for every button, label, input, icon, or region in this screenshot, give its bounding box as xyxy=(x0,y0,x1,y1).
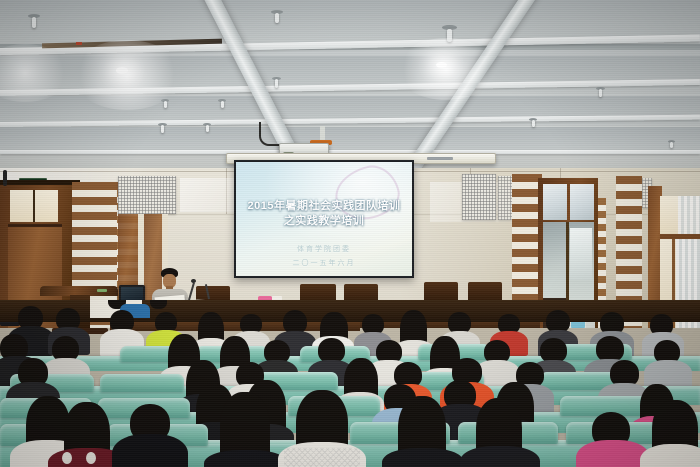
slide-subtitle-line-1: 体育学院团委 xyxy=(236,244,412,254)
lace-texture-overlay xyxy=(284,448,360,467)
lecture-hall-photo: 安全出口 xyxy=(0,0,700,467)
student-body-r1-g xyxy=(460,446,540,467)
projection-screen[interactable]: 2015年暑期社会实践团队培训 之实践教学培训 体育学院团委 二〇一五年六月 xyxy=(234,160,414,278)
slide-content: 2015年暑期社会实践团队培训 之实践教学培训 体育学院团委 二〇一五年六月 xyxy=(236,162,412,276)
left-door-transom-mullion xyxy=(33,190,35,222)
lectern-indicator xyxy=(97,289,107,292)
seatback-r3-b xyxy=(100,374,184,392)
audience-seating xyxy=(0,300,700,467)
jersey-letter-c xyxy=(62,452,72,464)
ceiling-lamp-glow-right xyxy=(396,38,496,100)
left-door-header xyxy=(0,180,80,185)
student-body-r1-f xyxy=(382,448,464,467)
right-window-blinds-upper xyxy=(678,196,700,236)
ceiling-lamp-left xyxy=(116,67,128,74)
student-body-r1-h-pink xyxy=(576,440,650,467)
wall-conduit xyxy=(3,170,7,186)
ceiling-marker-red xyxy=(76,42,82,45)
desk-microphone-head xyxy=(191,279,196,283)
ceiling-lamp-right xyxy=(436,62,447,68)
slide-title-line-2: 之实践教学培训 xyxy=(236,212,412,228)
slide-subtitle-line-2: 二〇一五年六月 xyxy=(236,258,412,268)
acoustic-panel-right-1 xyxy=(462,174,496,220)
slide-title-line-1: 2015年暑期社会实践团队培训 xyxy=(236,197,412,213)
left-door-panel-top-rail xyxy=(8,224,62,227)
jersey-letter-o xyxy=(86,452,96,464)
ceiling xyxy=(0,0,700,175)
acoustic-panel-right-2 xyxy=(498,176,512,220)
right-door-transom-right xyxy=(570,184,594,220)
student-body-r1-d xyxy=(204,450,288,467)
right-door-transom-left xyxy=(543,184,567,220)
screen-case-brand-logo xyxy=(427,157,453,160)
right-door-inner-window xyxy=(570,228,592,280)
student-body-r1-i xyxy=(640,444,700,467)
acoustic-panel-left xyxy=(118,176,176,214)
desk-monitor-screen xyxy=(121,287,143,301)
student-body-r1-c xyxy=(112,434,188,467)
ceiling-lamp-glow-left xyxy=(72,40,182,110)
projector-cable xyxy=(259,122,281,146)
